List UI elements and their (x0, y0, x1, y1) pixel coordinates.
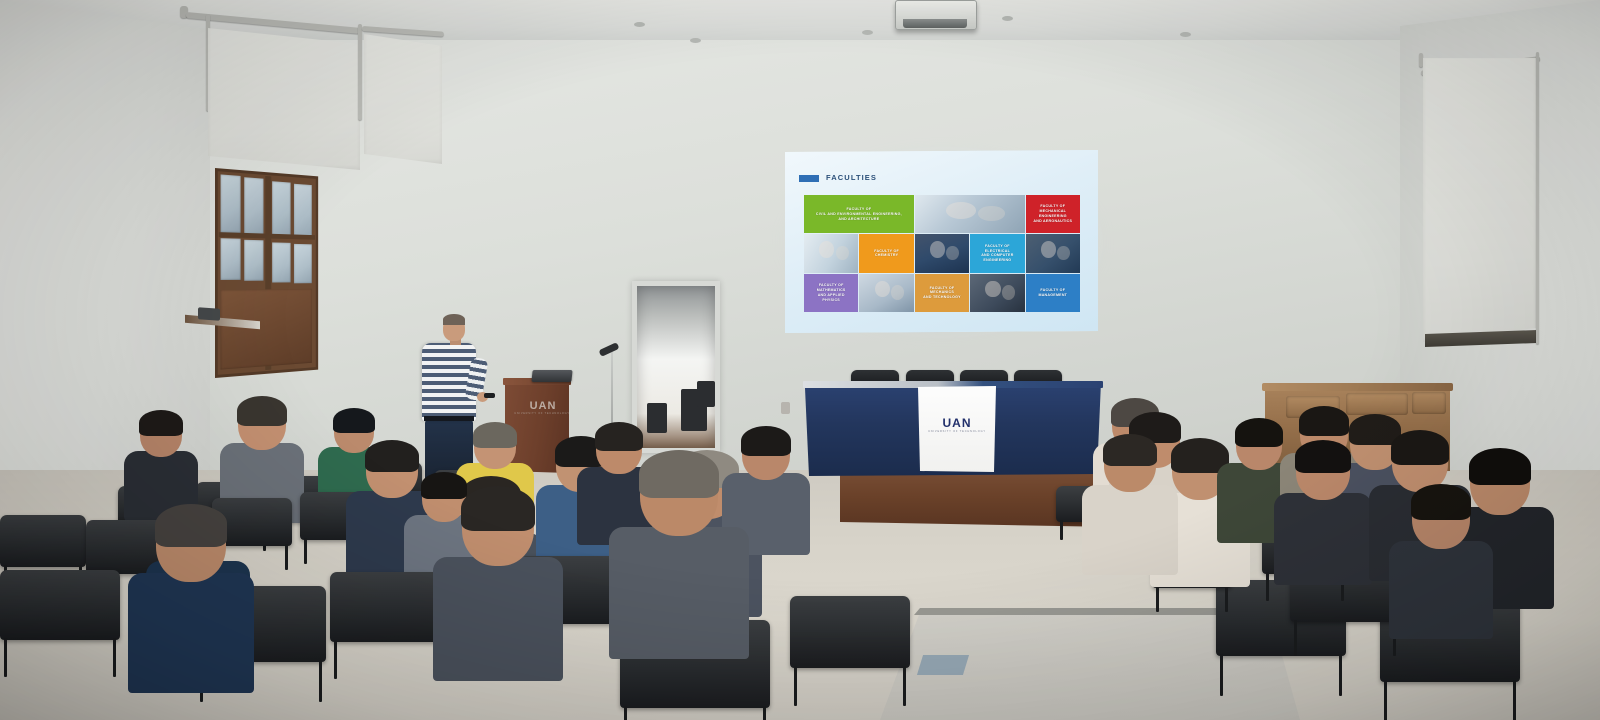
ceiling-fixture-dot (690, 38, 701, 43)
piano-front-panel (1412, 392, 1446, 414)
attendee-hair (139, 410, 183, 436)
attendee-hair (237, 396, 287, 426)
presentation-clicker (484, 393, 495, 398)
chair-leg (1266, 572, 1269, 601)
chair-leg (1060, 520, 1063, 540)
chair-leg (794, 666, 797, 706)
projector-lens-icon (903, 19, 967, 28)
slide-tile-label: FACULTY OFCIVIL AND ENVIRONMENTAL ENGINE… (814, 206, 904, 223)
attendee-hair (365, 440, 419, 472)
attendee-hair (1103, 434, 1157, 466)
slide-tile-photo-5 (859, 274, 913, 312)
piano-lid (1262, 383, 1453, 391)
chair-leg (1225, 586, 1228, 612)
attendee-hair (1235, 418, 1283, 447)
chair-leg (285, 544, 288, 570)
photo-figure (1041, 241, 1056, 258)
slide: FACULTIES FACULTY OFCIVIL AND ENVIRONMEN… (785, 150, 1098, 333)
chair-leg (334, 640, 337, 679)
window-pane (244, 240, 263, 281)
attendee-body (1274, 493, 1372, 585)
slide-tile-label: FACULTY OFMECHANICALENGINEERINGAND AERON… (1031, 203, 1074, 224)
chair-leg (1220, 654, 1223, 696)
chair-leg (4, 638, 7, 677)
chair-leg (1294, 620, 1297, 656)
attendee-body (609, 527, 749, 659)
lecture-hall-scene: FACULTIES FACULTY OFCIVIL AND ENVIRONMEN… (0, 0, 1600, 720)
slide-tile-photo-1 (915, 195, 1025, 233)
window-lower-panel (221, 289, 312, 370)
chair-leg (113, 638, 116, 677)
presenter-belt (424, 416, 474, 421)
door-frame (632, 281, 720, 453)
chair-leg (319, 660, 322, 702)
presenter-hair (443, 314, 465, 325)
slide-tile-mechanical: FACULTY OFMECHANICALENGINEERINGAND AERON… (1026, 195, 1080, 233)
photo-figure (1002, 285, 1015, 300)
slide-tile-photo-3 (915, 234, 969, 272)
chair-leg (1339, 654, 1342, 696)
audience-chair[interactable] (0, 570, 120, 640)
slide-tile-mathematics: FACULTY OFMATHEMATICSAND APPLIEDPHYSICS (804, 274, 858, 312)
attendee-hair (1299, 406, 1349, 436)
ceiling-fixture-dot (1002, 16, 1013, 21)
podium-laptop (531, 370, 572, 382)
wooden-window (215, 168, 318, 378)
window-pane (221, 238, 241, 280)
attendee-body (1389, 541, 1493, 639)
photo-figure (819, 241, 834, 258)
chair-leg (1513, 680, 1516, 720)
window-blind-right-wall (1423, 58, 1536, 342)
photo-figure (1057, 246, 1070, 261)
blind-cord-right (1536, 52, 1539, 344)
attendee-hair (639, 450, 719, 498)
slide-tile-label: FACULTY OFMATHEMATICSAND APPLIEDPHYSICS (815, 282, 848, 303)
photo-figure (930, 241, 945, 258)
podium-logo: UAN (521, 400, 565, 412)
chair-leg (903, 666, 906, 706)
podium-logo-sub: UNIVERSITY OF TECHNOLOGY (514, 412, 570, 415)
slide-tile-mechanics: FACULTY OFMECHANICSAND TECHNOLOGY (915, 274, 969, 312)
slide-heading: FACULTIES (826, 173, 877, 182)
faculties-grid: FACULTY OFCIVIL AND ENVIRONMENTAL ENGINE… (804, 195, 1080, 313)
chair-leg (624, 706, 627, 720)
attendee-hair (421, 472, 467, 499)
blind-rail-right-anchor (358, 24, 362, 120)
photo-figure (875, 281, 890, 298)
attendee-body (128, 573, 254, 693)
window-blind-left (208, 28, 360, 170)
chair-leg (1156, 586, 1159, 612)
attendee-hair (1391, 430, 1449, 465)
wall-socket (781, 402, 790, 414)
audience-chair[interactable] (0, 515, 86, 567)
window-pane (294, 184, 312, 239)
floor-outlet-box (917, 655, 969, 675)
ceiling-fixture-dot (862, 30, 873, 35)
attendee-hair (473, 422, 517, 448)
audience-chair[interactable] (790, 596, 910, 668)
slide-tile-chemistry: FACULTY OFCHEMISTRY (859, 234, 913, 272)
attendee-hair (741, 426, 791, 456)
attendee-hair (1295, 440, 1351, 473)
slide-tile-label: FACULTY OFCHEMISTRY (872, 248, 901, 260)
slide-tile-electrical: FACULTY OFELECTRICALAND COMPUTERENGINEER… (970, 234, 1024, 272)
attendee-hair (595, 422, 643, 451)
slide-tile-management: FACULTY OFMANAGEMENT (1026, 274, 1080, 312)
ceiling-fixture-dot (1180, 32, 1191, 37)
slide-tile-photo-2 (804, 234, 858, 272)
photo-figure (946, 202, 977, 219)
window-sill-object (198, 307, 220, 321)
photo-figure (978, 206, 1004, 221)
slide-tile-label: FACULTY OFMECHANICSAND TECHNOLOGY (921, 285, 963, 302)
window-pane (244, 177, 263, 234)
banner-logo: UAN (918, 416, 996, 430)
slide-tile-photo-4 (1026, 234, 1080, 272)
chair-leg (1384, 680, 1387, 720)
window-pane (272, 181, 290, 237)
slide-tile-label: FACULTY OFELECTRICALAND COMPUTERENGINEER… (979, 243, 1015, 264)
audience-chair[interactable] (330, 572, 448, 642)
window-pane (294, 244, 312, 283)
photo-figure (946, 246, 959, 261)
piano-front-panel (1346, 393, 1408, 415)
window-pane (221, 174, 241, 232)
attendee-hair (333, 408, 375, 433)
chair-leg (763, 706, 766, 720)
slide-tile-civil: FACULTY OFCIVIL AND ENVIRONMENTAL ENGINE… (804, 195, 914, 233)
attendee-hair (1469, 448, 1531, 485)
attendee-hair (461, 486, 535, 531)
slide-tile-photo-6 (970, 274, 1024, 312)
blind-rail-right-vertical (1419, 53, 1423, 67)
projection-screen: FACULTIES FACULTY OFCIVIL AND ENVIRONMEN… (785, 150, 1098, 333)
slide-tile-label: FACULTY OFMANAGEMENT (1036, 287, 1069, 299)
photo-figure (985, 281, 1000, 298)
attendee-hair (1411, 484, 1471, 520)
window-blind-right (364, 34, 442, 164)
photo-figure (836, 246, 849, 261)
banner-logo-sub: UNIVERSITY OF TECHNOLOGY (918, 430, 996, 433)
window-pane (272, 242, 290, 282)
slide-accent-bar (799, 175, 819, 182)
attendee-body (1082, 485, 1178, 575)
chair-leg (304, 538, 307, 564)
attendee-hair (155, 504, 227, 547)
attendee-body (433, 557, 563, 681)
photo-figure (891, 285, 904, 300)
ceiling-fixture-dot (634, 22, 645, 27)
